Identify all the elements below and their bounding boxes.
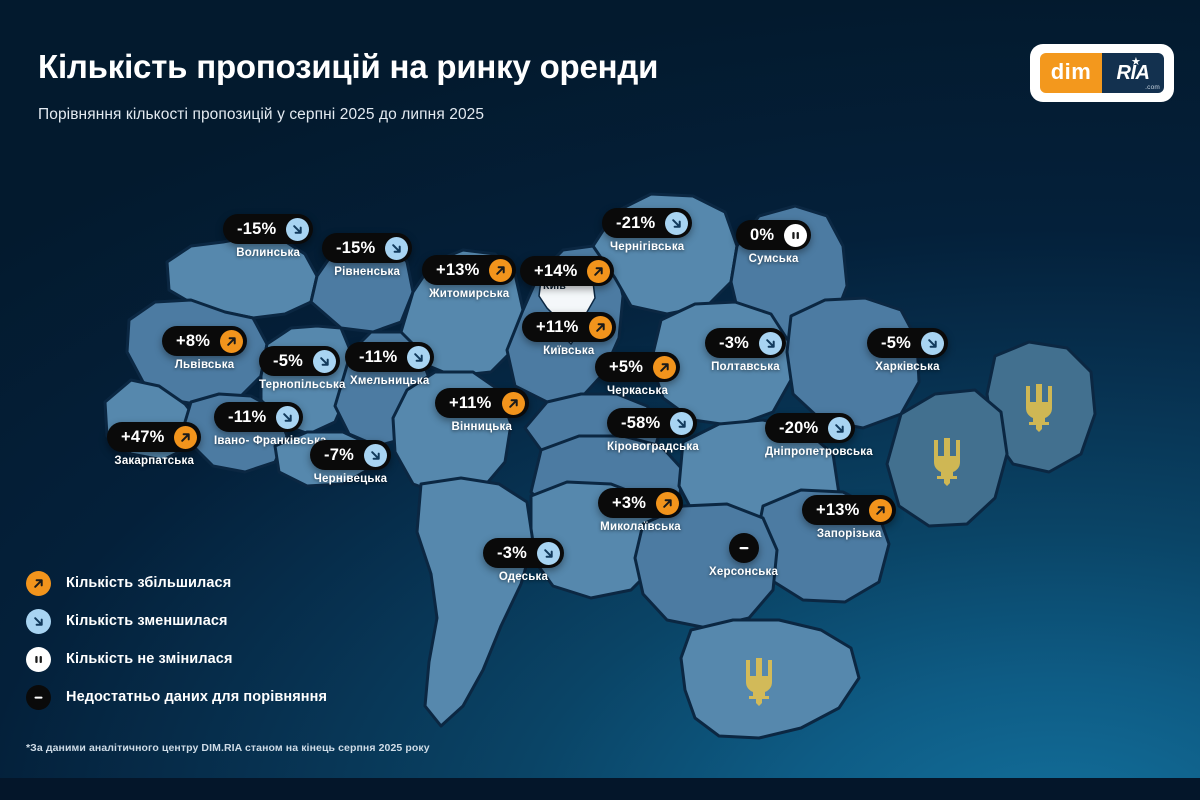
region-label: Харківська <box>867 361 948 373</box>
arrow-down-right-icon <box>276 406 299 429</box>
region-label: Сумська <box>736 253 811 265</box>
value-pill: -7% <box>310 440 391 470</box>
marker-vinnytska[interactable]: +11%Вінницька <box>435 388 529 433</box>
value-text: +11% <box>536 318 589 337</box>
value-pill: +13% <box>422 255 516 285</box>
marker-chernivetska[interactable]: -7%Чернівецька <box>310 440 391 485</box>
value-text: -58% <box>621 414 670 433</box>
marker-kharkivska[interactable]: -5%Харківська <box>867 328 948 373</box>
logo-dim-text: dim <box>1040 53 1102 93</box>
tryzub-icon-donetsk <box>934 438 960 486</box>
pause-icon <box>784 224 807 247</box>
value-pill: -11% <box>345 342 434 372</box>
marker-ternopilska[interactable]: -5%Тернопільська <box>259 346 346 391</box>
marker-zhytomyrska[interactable]: +13%Житомирська <box>422 255 516 300</box>
value-pill: +47% <box>107 422 201 452</box>
region-label: Одеська <box>483 571 564 583</box>
marker-mykolaivska[interactable]: +3%Миколаївська <box>598 488 683 533</box>
arrow-up-right-icon <box>589 316 612 339</box>
value-text: +14% <box>534 262 587 281</box>
arrow-down-right-icon <box>385 237 408 260</box>
arrow-up-right-icon <box>869 499 892 522</box>
marker-khmelnytska[interactable]: -11%Хмельницька <box>345 342 434 387</box>
value-pill: +14% <box>520 256 614 286</box>
marker-zaporizka[interactable]: +13%Запорізька <box>802 495 896 540</box>
arrow-down-right-icon <box>407 346 430 369</box>
region-label: Житомирська <box>422 288 516 300</box>
arrow-down-right-icon <box>759 332 782 355</box>
region-label: Полтавська <box>705 361 786 373</box>
dim-ria-logo[interactable]: dim ★ RIA .com <box>1030 44 1174 102</box>
value-text: -5% <box>273 352 313 371</box>
legend-label: Недостатньо даних для порівняння <box>66 689 327 705</box>
minus-icon <box>729 533 759 563</box>
arrow-up-right-icon <box>489 259 512 282</box>
logo-com-text: .com <box>1145 84 1160 91</box>
value-pill: -3% <box>483 538 564 568</box>
arrow-down-right-icon <box>313 350 336 373</box>
arrow-down-right-icon <box>665 212 688 235</box>
marker-dnipro[interactable]: -20%Дніпропетровська <box>765 413 873 458</box>
value-text: -11% <box>359 348 407 367</box>
page-subtitle: Порівняння кількості пропозицій у серпні… <box>38 106 798 124</box>
region-label: Чернігівська <box>602 241 692 253</box>
marker-odeska[interactable]: -3%Одеська <box>483 538 564 583</box>
value-text: +8% <box>176 332 220 351</box>
value-text: +5% <box>609 358 653 377</box>
value-pill: -21% <box>602 208 692 238</box>
legend: Кількість збільшиласяКількість зменшилас… <box>26 564 327 716</box>
value-text: -7% <box>324 446 364 465</box>
value-pill: 0% <box>736 220 811 250</box>
legend-item-flat: Кількість не змінилася <box>26 640 327 678</box>
legend-item-down: Кількість зменшилася <box>26 602 327 640</box>
pause-icon <box>26 647 51 672</box>
arrow-down-right-icon <box>286 218 309 241</box>
region-label: Львівська <box>162 359 247 371</box>
region-label: Хмельницька <box>345 375 434 387</box>
region-label: Херсонська <box>709 566 778 578</box>
page-title: Кількість пропозицій на ринку оренди <box>38 48 798 86</box>
marker-volynska[interactable]: -15%Волинська <box>223 214 313 259</box>
arrow-down-right-icon <box>537 542 560 565</box>
minus-icon <box>26 685 51 710</box>
region-label: Тернопільська <box>259 379 346 391</box>
bottom-band <box>0 778 1200 800</box>
region-label: Чернівецька <box>310 473 391 485</box>
region-label: Дніпропетровська <box>765 446 873 458</box>
arrow-up-right-icon <box>502 392 525 415</box>
marker-kyiv[interactable]: +14% <box>520 256 614 286</box>
arrow-down-right-icon <box>364 444 387 467</box>
region-label: Кіровоградська <box>607 441 699 453</box>
value-text: -5% <box>881 334 921 353</box>
value-pill: +5% <box>595 352 680 382</box>
arrow-down-right-icon <box>828 417 851 440</box>
region-odeska <box>417 478 533 726</box>
marker-lvivska[interactable]: +8%Львівська <box>162 326 247 371</box>
value-pill: -3% <box>705 328 786 358</box>
value-text: +47% <box>121 428 174 447</box>
value-text: +13% <box>816 501 869 520</box>
region-label: Рівненська <box>322 266 412 278</box>
region-label: Миколаївська <box>598 521 683 533</box>
value-text: -15% <box>237 220 286 239</box>
region-label: Запорізька <box>802 528 896 540</box>
value-text: -20% <box>779 419 828 438</box>
arrow-up-right-icon <box>656 492 679 515</box>
arrow-up-right-icon <box>26 571 51 596</box>
value-pill: +8% <box>162 326 247 356</box>
legend-label: Кількість зменшилася <box>66 613 228 629</box>
marker-poltavska[interactable]: -3%Полтавська <box>705 328 786 373</box>
value-pill: +13% <box>802 495 896 525</box>
value-pill: -20% <box>765 413 855 443</box>
value-pill: -15% <box>322 233 412 263</box>
value-text: +13% <box>436 261 489 280</box>
arrow-down-right-icon <box>26 609 51 634</box>
arrow-up-right-icon <box>220 330 243 353</box>
marker-sumska[interactable]: 0%Сумська <box>736 220 811 265</box>
arrow-up-right-icon <box>653 356 676 379</box>
marker-kirovohradska[interactable]: -58%Кіровоградська <box>607 408 699 453</box>
legend-item-up: Кількість збільшилася <box>26 564 327 602</box>
legend-label: Кількість збільшилася <box>66 575 231 591</box>
legend-label: Кількість не змінилася <box>66 651 233 667</box>
value-pill: -58% <box>607 408 697 438</box>
arrow-up-right-icon <box>174 426 197 449</box>
region-label: Волинська <box>223 247 313 259</box>
marker-chernihivska[interactable]: -21%Чернігівська <box>602 208 692 253</box>
value-text: -21% <box>616 214 665 233</box>
arrow-down-right-icon <box>670 412 693 435</box>
value-text: +11% <box>449 394 502 413</box>
region-label: Закарпатська <box>107 455 201 467</box>
value-text: -3% <box>719 334 759 353</box>
value-pill: +11% <box>435 388 529 418</box>
arrow-down-right-icon <box>921 332 944 355</box>
footnote: *За даними аналітичного центру DIM.RIA с… <box>26 742 430 754</box>
marker-zakarpatska[interactable]: +47%Закарпатська <box>107 422 201 467</box>
legend-item-none: Недостатньо даних для порівняння <box>26 678 327 716</box>
logo-ria-block: ★ RIA .com <box>1102 53 1164 93</box>
value-text: +3% <box>612 494 656 513</box>
header: Кількість пропозицій на ринку оренди Пор… <box>38 48 798 124</box>
marker-cherkaska[interactable]: +5%Черкаська <box>595 352 680 397</box>
value-text: -3% <box>497 544 537 563</box>
tryzub-icon-luhansk <box>1026 384 1052 432</box>
logo-inner: dim ★ RIA .com <box>1040 53 1164 93</box>
region-label: Вінницька <box>435 421 529 433</box>
value-pill: -5% <box>867 328 948 358</box>
arrow-up-right-icon <box>587 260 610 283</box>
tryzub-icon-crimea <box>746 658 772 706</box>
value-text: -11% <box>228 408 276 427</box>
value-pill: -11% <box>214 402 303 432</box>
value-pill: -15% <box>223 214 313 244</box>
marker-rivnenska[interactable]: -15%Рівненська <box>322 233 412 278</box>
marker-khersonska[interactable]: Херсонська <box>709 533 778 578</box>
marker-kyivska[interactable]: +11%Київська <box>522 312 616 357</box>
value-pill: +11% <box>522 312 616 342</box>
region-label: Черкаська <box>595 385 680 397</box>
value-pill: +3% <box>598 488 683 518</box>
value-text: -15% <box>336 239 385 258</box>
value-pill: -5% <box>259 346 340 376</box>
star-icon: ★ <box>1131 57 1141 68</box>
value-text: 0% <box>750 226 784 245</box>
